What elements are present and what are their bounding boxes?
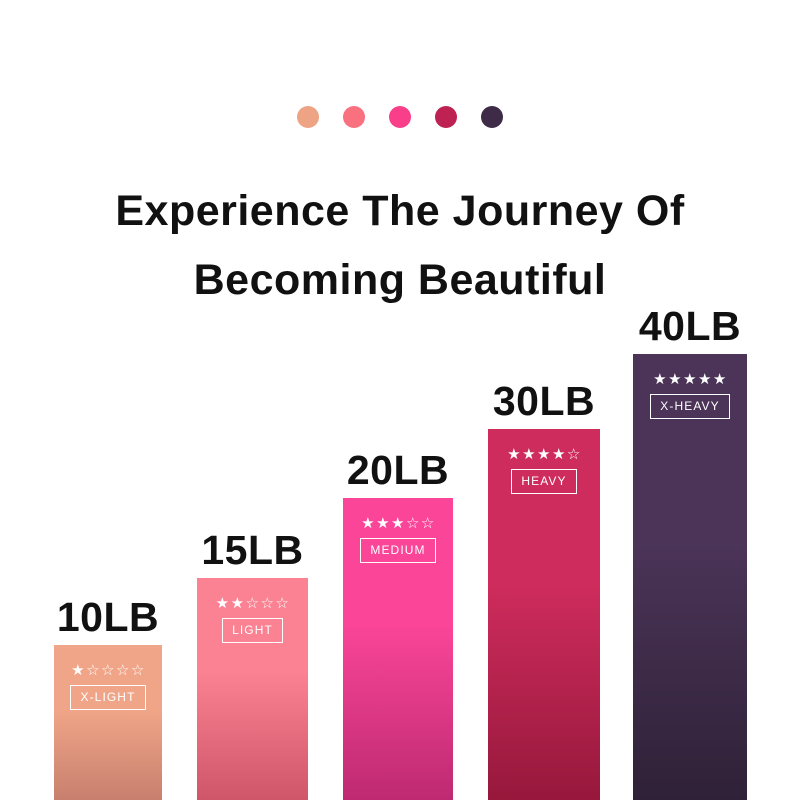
resistance-level-bar-chart: 10LB★☆☆☆☆X-LIGHT15LB★★☆☆☆LIGHT20LB★★★☆☆M… <box>0 0 800 800</box>
star-filled-icon: ★ <box>216 596 230 611</box>
bar-content: ★☆☆☆☆X-LIGHT <box>54 663 162 710</box>
bar-weight-label: 15LB <box>201 530 303 571</box>
star-rating: ★★☆☆☆ <box>216 596 290 611</box>
bar-rect: ★☆☆☆☆X-LIGHT <box>54 645 162 800</box>
star-filled-icon: ★ <box>507 447 521 462</box>
resistance-level-badge: MEDIUM <box>360 538 435 563</box>
resistance-level-badge: LIGHT <box>222 618 283 643</box>
star-filled-icon: ★ <box>522 447 536 462</box>
star-filled-icon: ★ <box>683 372 697 387</box>
star-rating: ★★★★☆ <box>507 447 581 462</box>
star-rating: ★★★☆☆ <box>361 516 435 531</box>
star-filled-icon: ★ <box>552 447 566 462</box>
resistance-level-badge: HEAVY <box>511 469 576 494</box>
bar-fill <box>633 354 747 800</box>
star-filled-icon: ★ <box>668 372 682 387</box>
bar-group-40lb[interactable]: 40LB★★★★★X-HEAVY <box>633 354 747 800</box>
bar-content: ★★★★★X-HEAVY <box>633 372 747 419</box>
star-empty-icon: ☆ <box>275 596 289 611</box>
bar-rect: ★★★★★X-HEAVY <box>633 354 747 800</box>
bar-group-15lb[interactable]: 15LB★★☆☆☆LIGHT <box>197 578 308 800</box>
star-empty-icon: ☆ <box>131 663 145 678</box>
bar-rect: ★★★★☆HEAVY <box>488 429 600 800</box>
star-filled-icon: ★ <box>713 372 727 387</box>
star-empty-icon: ☆ <box>101 663 115 678</box>
star-empty-icon: ☆ <box>86 663 100 678</box>
star-empty-icon: ☆ <box>421 516 435 531</box>
bar-rect: ★★☆☆☆LIGHT <box>197 578 308 800</box>
poster-canvas: Experience The Journey Of Becoming Beaut… <box>0 0 800 800</box>
star-filled-icon: ★ <box>71 663 85 678</box>
bar-rect: ★★★☆☆MEDIUM <box>343 498 453 800</box>
bar-content: ★★★☆☆MEDIUM <box>343 516 453 563</box>
star-empty-icon: ☆ <box>260 596 274 611</box>
resistance-level-badge: X-LIGHT <box>70 685 145 710</box>
star-filled-icon: ★ <box>376 516 390 531</box>
star-filled-icon: ★ <box>537 447 551 462</box>
star-filled-icon: ★ <box>653 372 667 387</box>
star-filled-icon: ★ <box>231 596 245 611</box>
bar-content: ★★☆☆☆LIGHT <box>197 596 308 643</box>
star-filled-icon: ★ <box>391 516 405 531</box>
bar-group-30lb[interactable]: 30LB★★★★☆HEAVY <box>488 429 600 800</box>
bar-weight-label: 20LB <box>347 450 449 491</box>
star-empty-icon: ☆ <box>116 663 130 678</box>
star-rating: ★★★★★ <box>653 372 727 387</box>
star-filled-icon: ★ <box>698 372 712 387</box>
bar-weight-label: 30LB <box>493 381 595 422</box>
bar-weight-label: 10LB <box>57 597 159 638</box>
bar-group-10lb[interactable]: 10LB★☆☆☆☆X-LIGHT <box>54 645 162 800</box>
star-empty-icon: ☆ <box>406 516 420 531</box>
star-filled-icon: ★ <box>361 516 375 531</box>
resistance-level-badge: X-HEAVY <box>650 394 730 419</box>
bar-content: ★★★★☆HEAVY <box>488 447 600 494</box>
star-rating: ★☆☆☆☆ <box>71 663 145 678</box>
star-empty-icon: ☆ <box>567 447 581 462</box>
star-empty-icon: ☆ <box>246 596 260 611</box>
bar-group-20lb[interactable]: 20LB★★★☆☆MEDIUM <box>343 498 453 800</box>
bar-weight-label: 40LB <box>639 306 741 347</box>
